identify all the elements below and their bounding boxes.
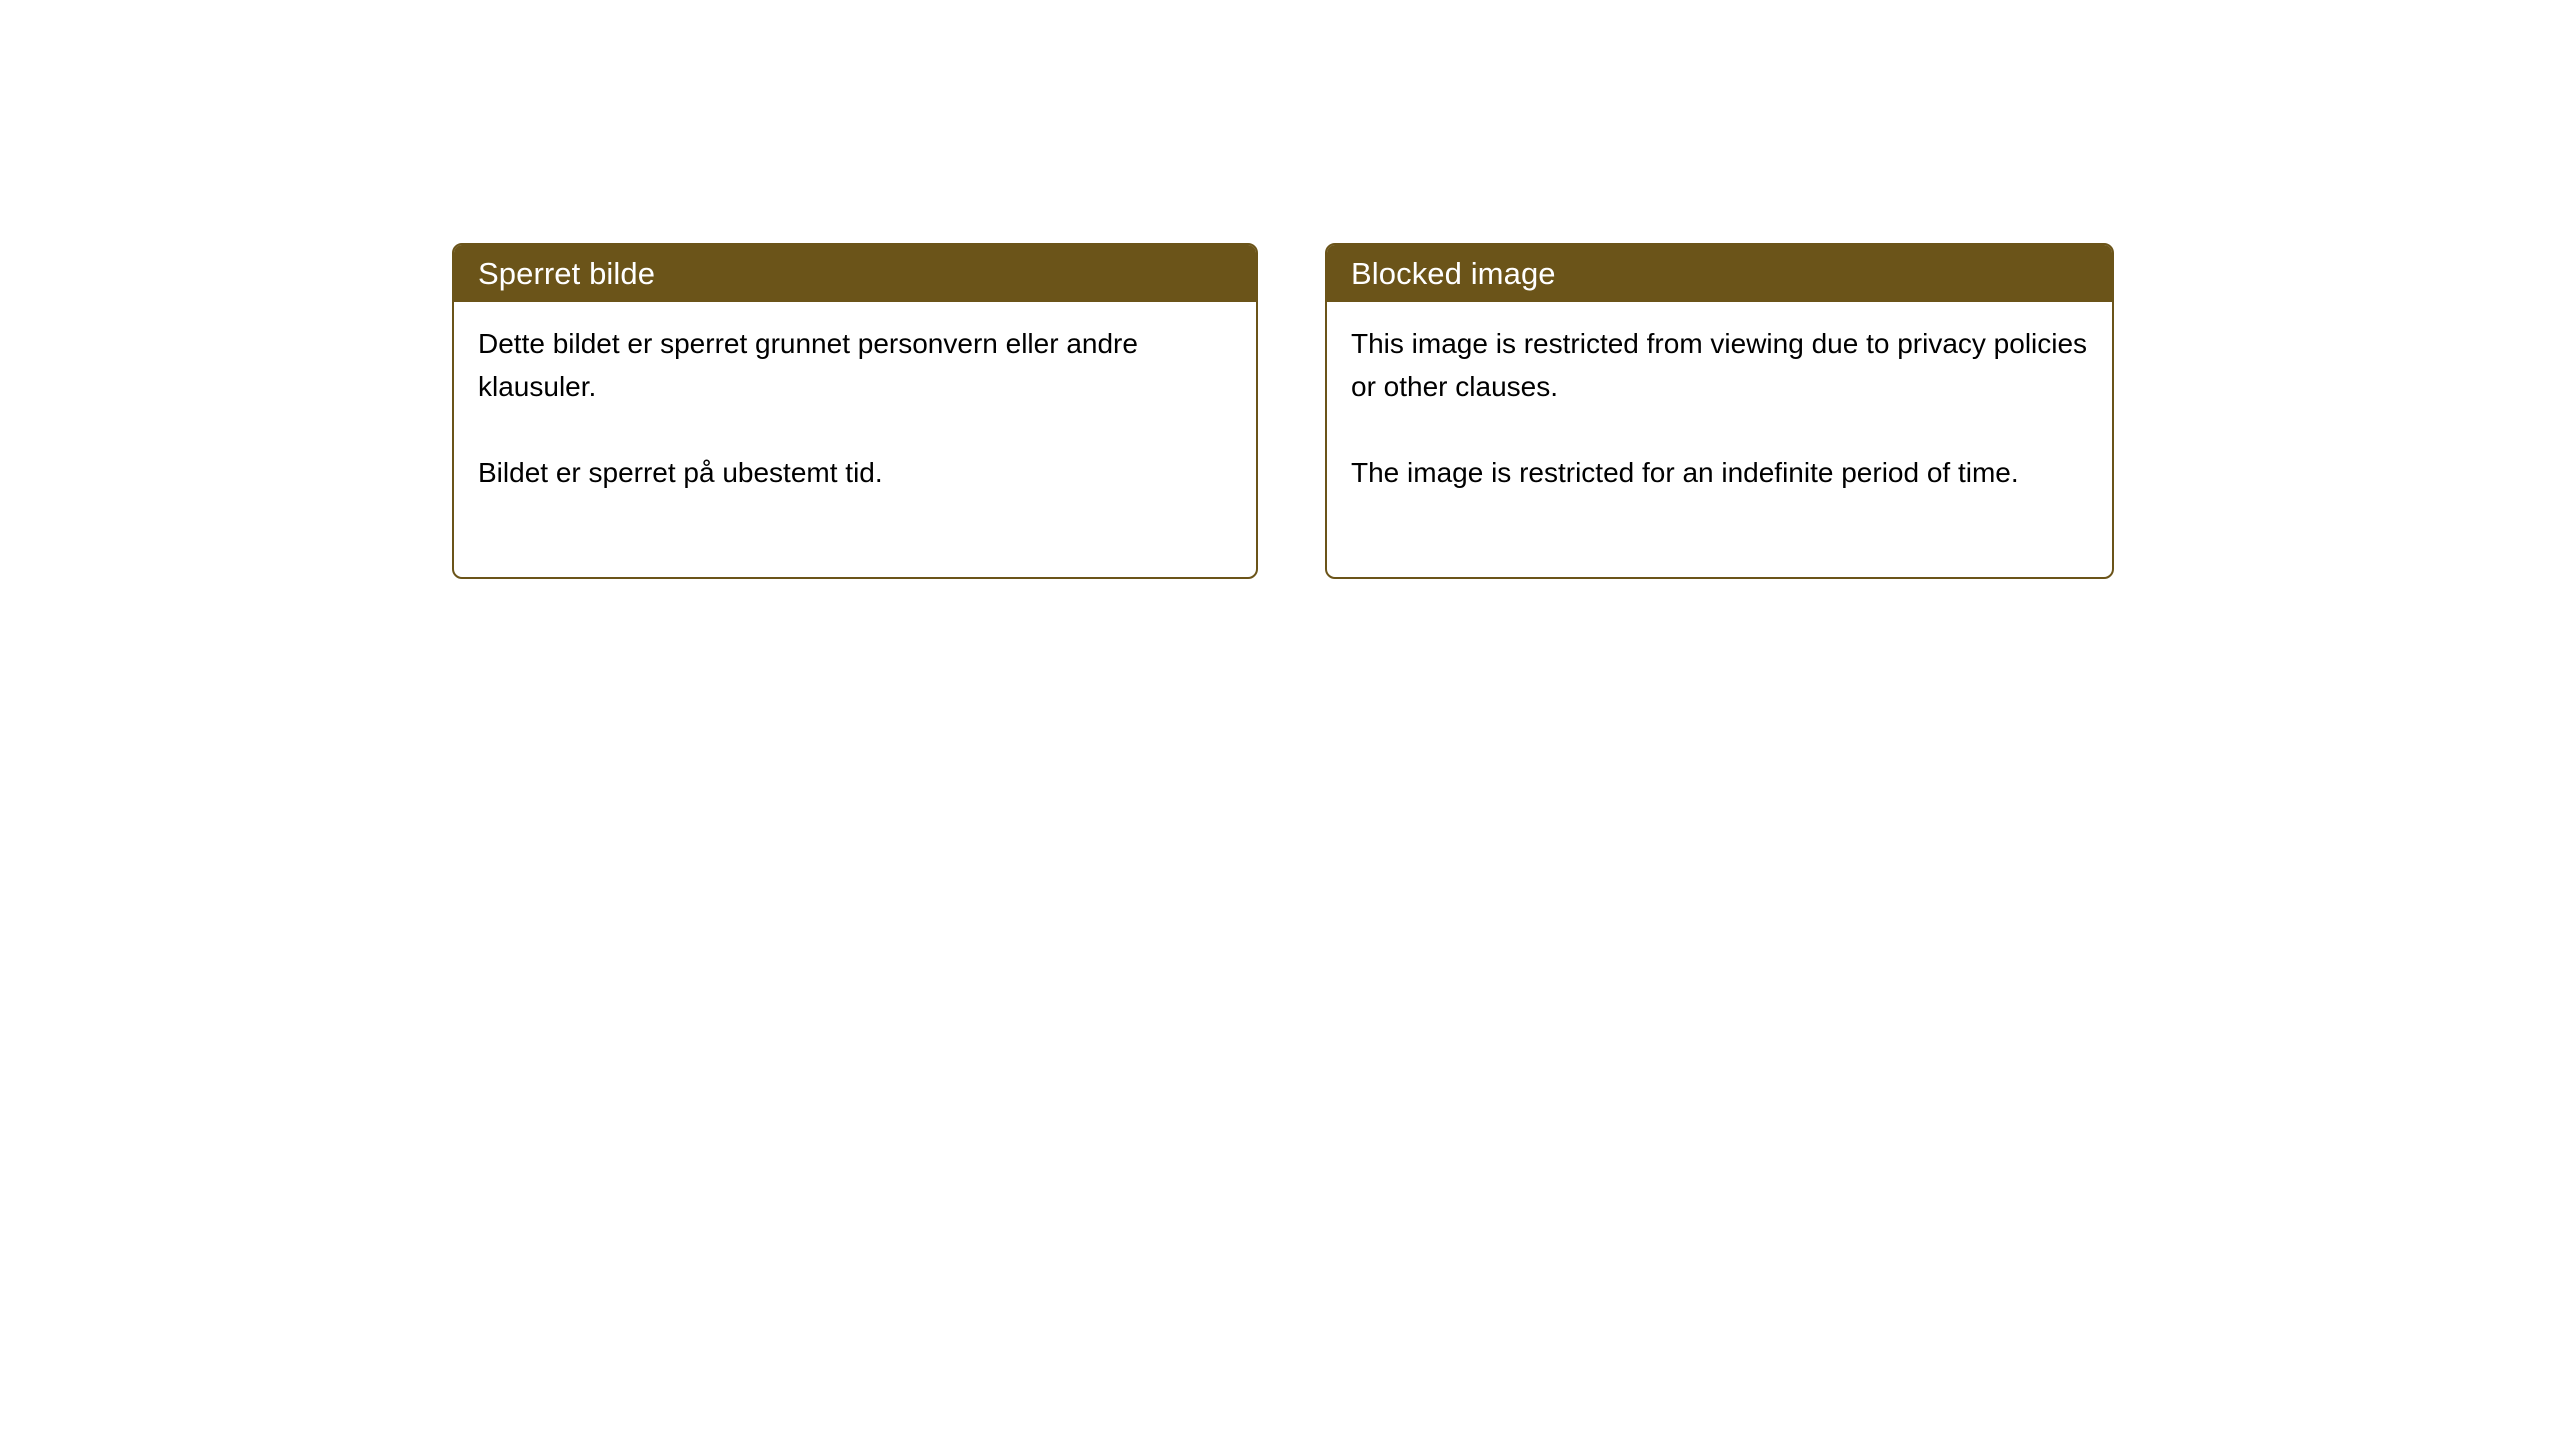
blocked-image-notice-en: Blocked image This image is restricted f…: [1325, 243, 2114, 579]
card-body-no: Dette bildet er sperret grunnet personve…: [454, 302, 1256, 518]
card-header-en: Blocked image: [1327, 245, 2112, 302]
card-header-no: Sperret bilde: [454, 245, 1256, 302]
paragraph-spacer-en: [1351, 408, 2088, 451]
paragraph-spacer-no: [478, 408, 1232, 451]
card-paragraph-en-1: This image is restricted from viewing du…: [1351, 322, 2088, 408]
card-paragraph-no-2: Bildet er sperret på ubestemt tid.: [478, 451, 1232, 494]
card-body-en: This image is restricted from viewing du…: [1327, 302, 2112, 518]
page-canvas: Sperret bilde Dette bildet er sperret gr…: [0, 0, 2560, 1440]
card-title-en: Blocked image: [1351, 258, 1556, 289]
card-paragraph-no-1: Dette bildet er sperret grunnet personve…: [478, 322, 1232, 408]
blocked-image-notice-no: Sperret bilde Dette bildet er sperret gr…: [452, 243, 1258, 579]
card-paragraph-en-2: The image is restricted for an indefinit…: [1351, 451, 2088, 494]
card-title-no: Sperret bilde: [478, 258, 655, 289]
